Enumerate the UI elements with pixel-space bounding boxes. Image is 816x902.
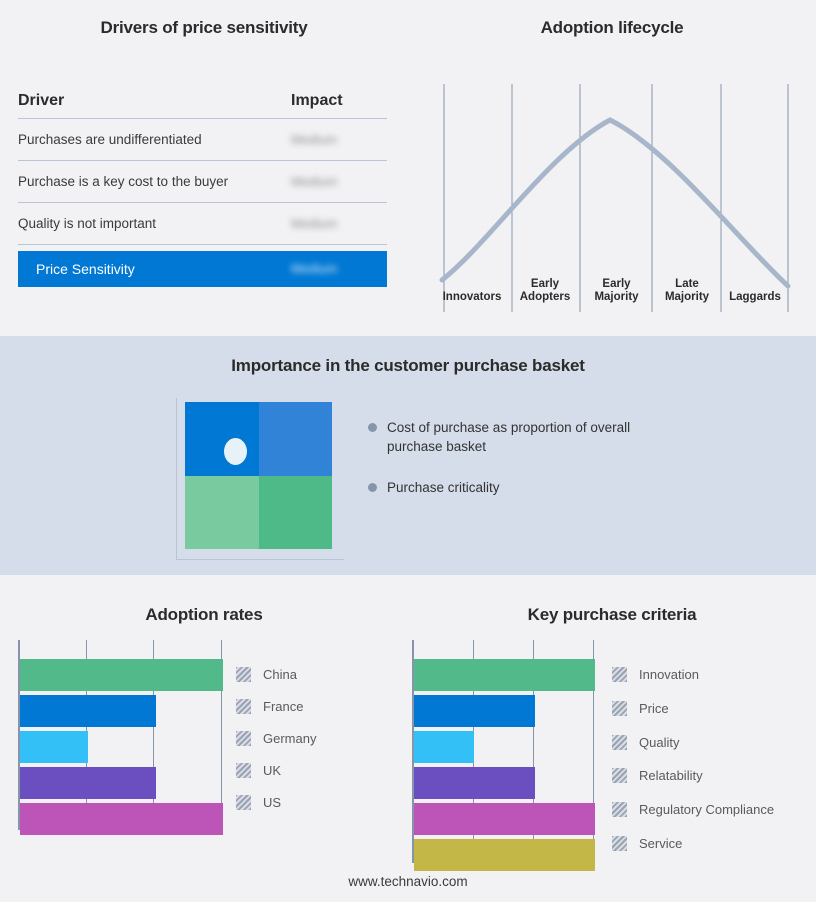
legend-item: Germany bbox=[236, 731, 316, 746]
legend-item: Quality bbox=[612, 735, 679, 750]
adoption-lifecycle-title: Adoption lifecycle bbox=[408, 18, 816, 38]
impact-value-text: Medium bbox=[291, 261, 337, 276]
matrix-cell-bottom-right bbox=[259, 476, 333, 550]
legend-item: Cost of purchase as proportion of overal… bbox=[368, 418, 668, 456]
stage-label-line1: Early bbox=[581, 278, 652, 291]
legend-item: Regulatory Compliance bbox=[612, 802, 774, 817]
stage-label-line2: Laggards bbox=[722, 291, 788, 304]
driver-label: Purchase is a key cost to the buyer bbox=[18, 174, 291, 189]
bullet-dot-icon bbox=[368, 423, 377, 432]
stage-label-late-majority: Late Majority bbox=[653, 278, 721, 304]
drivers-table: Driver Impact Purchases are undifferenti… bbox=[18, 92, 387, 287]
legend-item-label: UK bbox=[263, 763, 281, 778]
matrix-quadrant-grid bbox=[185, 402, 332, 549]
impact-value: Medium bbox=[291, 260, 387, 278]
legend-item-label: Cost of purchase as proportion of overal… bbox=[387, 418, 668, 456]
legend-item: Innovation bbox=[612, 667, 699, 682]
adoption-rates-chart: China France Germany UK US bbox=[18, 640, 388, 840]
legend-swatch-icon bbox=[612, 802, 627, 817]
purchase-basket-title: Importance in the customer purchase bask… bbox=[0, 356, 816, 376]
impact-value-text: Medium bbox=[291, 216, 337, 231]
key-purchase-criteria-chart: Innovation Price Quality Relatability Re… bbox=[412, 640, 812, 870]
bar-price bbox=[414, 695, 535, 727]
legend-item-label: US bbox=[263, 795, 281, 810]
bar-quality bbox=[414, 731, 474, 763]
table-row: Purchases are undifferentiated Medium bbox=[18, 119, 387, 161]
purchase-basket-matrix bbox=[176, 398, 344, 560]
legend-swatch-icon bbox=[236, 795, 251, 810]
stage-label-early-adopters: Early Adopters bbox=[510, 278, 580, 304]
legend-item-label: Price bbox=[639, 701, 669, 716]
adoption-rates-panel: Adoption rates China France Germany bbox=[0, 590, 408, 880]
table-row: Purchase is a key cost to the buyer Medi… bbox=[18, 161, 387, 203]
bullet-dot-icon bbox=[368, 483, 377, 492]
legend-swatch-icon bbox=[236, 699, 251, 714]
footer-url: www.technavio.com bbox=[0, 874, 816, 889]
stage-label-innovators: Innovators bbox=[436, 291, 508, 304]
matrix-axis-vertical bbox=[176, 398, 177, 560]
bar-regulatory-compliance bbox=[414, 803, 595, 835]
legend-item: US bbox=[236, 795, 281, 810]
lifecycle-svg bbox=[420, 72, 804, 312]
column-header-driver: Driver bbox=[18, 92, 291, 110]
legend-item: France bbox=[236, 699, 303, 714]
legend-item: UK bbox=[236, 763, 281, 778]
legend-item-label: Regulatory Compliance bbox=[639, 802, 774, 817]
impact-value-text: Medium bbox=[291, 174, 337, 189]
adoption-lifecycle-chart: Innovators Early Adopters Early Majority… bbox=[420, 72, 804, 312]
matrix-axis-horizontal bbox=[176, 559, 344, 560]
legend-item-label: Service bbox=[639, 836, 682, 851]
bar-innovation bbox=[414, 659, 595, 691]
stage-label-laggards: Laggards bbox=[722, 291, 788, 304]
bar-service bbox=[414, 839, 595, 871]
impact-value: Medium bbox=[291, 131, 387, 149]
legend-swatch-icon bbox=[236, 731, 251, 746]
legend-item: Purchase criticality bbox=[368, 478, 668, 497]
bar-relatability bbox=[414, 767, 535, 799]
stage-label-line2: Majority bbox=[653, 291, 721, 304]
stage-label-line1: Late bbox=[653, 278, 721, 291]
table-row: Quality is not important Medium bbox=[18, 203, 387, 245]
key-purchase-criteria-panel: Key purchase criteria Innovation Price bbox=[408, 590, 816, 880]
legend-item-label: Quality bbox=[639, 735, 679, 750]
stage-label-line2: Majority bbox=[581, 291, 652, 304]
matrix-cell-bottom-left bbox=[185, 476, 259, 550]
key-purchase-criteria-plot-area bbox=[412, 640, 595, 863]
drivers-panel-title: Drivers of price sensitivity bbox=[0, 18, 408, 38]
legend-swatch-icon bbox=[612, 768, 627, 783]
adoption-bell-curve bbox=[442, 120, 788, 286]
drivers-panel: Drivers of price sensitivity Driver Impa… bbox=[0, 0, 408, 336]
legend-item-label: Germany bbox=[263, 731, 316, 746]
legend-swatch-icon bbox=[236, 763, 251, 778]
legend-item: Relatability bbox=[612, 768, 703, 783]
legend-item-label: Relatability bbox=[639, 768, 703, 783]
impact-value-text: Medium bbox=[291, 132, 337, 147]
driver-label: Quality is not important bbox=[18, 216, 291, 231]
legend-item: Price bbox=[612, 701, 669, 716]
bar-uk bbox=[20, 767, 156, 799]
stage-label-line2: Adopters bbox=[510, 291, 580, 304]
legend-item-label: Innovation bbox=[639, 667, 699, 682]
legend-item: China bbox=[236, 667, 297, 682]
driver-label: Purchases are undifferentiated bbox=[18, 132, 291, 147]
matrix-position-marker-icon bbox=[224, 438, 247, 465]
matrix-cell-top-left bbox=[185, 402, 259, 476]
stage-label-line2: Innovators bbox=[436, 291, 508, 304]
adoption-rates-title: Adoption rates bbox=[0, 605, 408, 625]
key-purchase-criteria-title: Key purchase criteria bbox=[408, 605, 816, 625]
stage-label-early-majority: Early Majority bbox=[581, 278, 652, 304]
impact-value: Medium bbox=[291, 215, 387, 233]
legend-item-label: China bbox=[263, 667, 297, 682]
legend-item: Service bbox=[612, 836, 682, 851]
purchase-basket-legend: Cost of purchase as proportion of overal… bbox=[368, 418, 668, 519]
matrix-cell-top-right bbox=[259, 402, 333, 476]
legend-swatch-icon bbox=[612, 701, 627, 716]
bar-france bbox=[20, 695, 156, 727]
drivers-table-header: Driver Impact bbox=[18, 92, 387, 119]
table-row-highlighted-price-sensitivity: Price Sensitivity Medium bbox=[18, 251, 387, 287]
legend-item-label: France bbox=[263, 699, 303, 714]
driver-label: Price Sensitivity bbox=[36, 261, 291, 277]
legend-swatch-icon bbox=[612, 667, 627, 682]
bar-us bbox=[20, 803, 223, 835]
impact-value: Medium bbox=[291, 173, 387, 191]
adoption-rates-plot-area bbox=[18, 640, 223, 830]
legend-item-label: Purchase criticality bbox=[387, 478, 500, 497]
legend-swatch-icon bbox=[612, 836, 627, 851]
adoption-lifecycle-panel: Adoption lifecycle Innovators Early Adop… bbox=[408, 0, 816, 336]
stage-label-line1: Early bbox=[510, 278, 580, 291]
legend-swatch-icon bbox=[236, 667, 251, 682]
bar-china bbox=[20, 659, 223, 691]
column-header-impact: Impact bbox=[291, 92, 387, 110]
bar-germany bbox=[20, 731, 88, 763]
legend-swatch-icon bbox=[612, 735, 627, 750]
